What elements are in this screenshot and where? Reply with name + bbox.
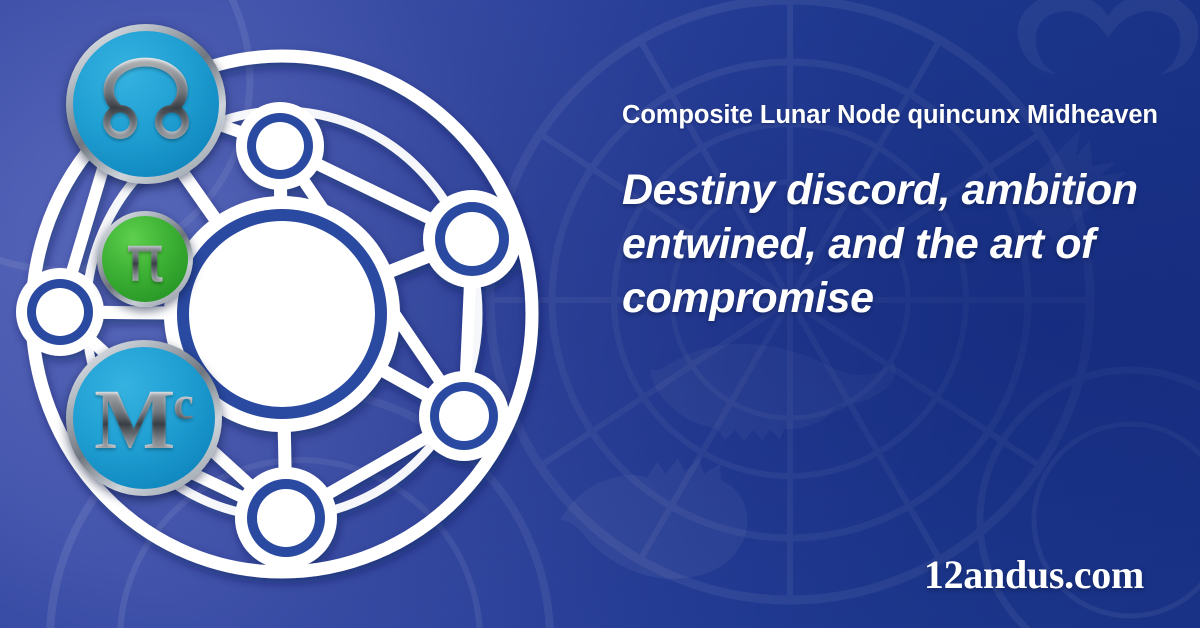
aspect-subhead: Destiny discord, ambition entwined, and … <box>622 163 1162 326</box>
badge-face: ☊ <box>73 31 219 177</box>
mc-letter-m: M <box>94 371 173 467</box>
north-node-icon: ☊ <box>96 45 195 157</box>
aspect-headline: Composite Lunar Node quincunx Midheaven <box>622 101 1200 130</box>
text-column: Composite Lunar Node quincunx Midheaven … <box>620 0 1200 628</box>
site-brand: 12andus.com <box>924 551 1144 598</box>
badge-lunar-node: ☊ <box>66 24 226 184</box>
midheaven-mc-icon: Mc <box>94 376 194 462</box>
badge-face: Mc <box>73 347 215 489</box>
badge-face: π <box>102 216 188 302</box>
libra-scales-icon: π <box>126 228 165 292</box>
badge-zodiac-sign: π <box>97 211 193 307</box>
badge-midheaven: Mc <box>66 340 222 496</box>
poster-canvas: ☊ π Mc Composite Lunar Node quincunx Mid… <box>0 0 1200 628</box>
mc-letter-c: c <box>173 378 194 429</box>
